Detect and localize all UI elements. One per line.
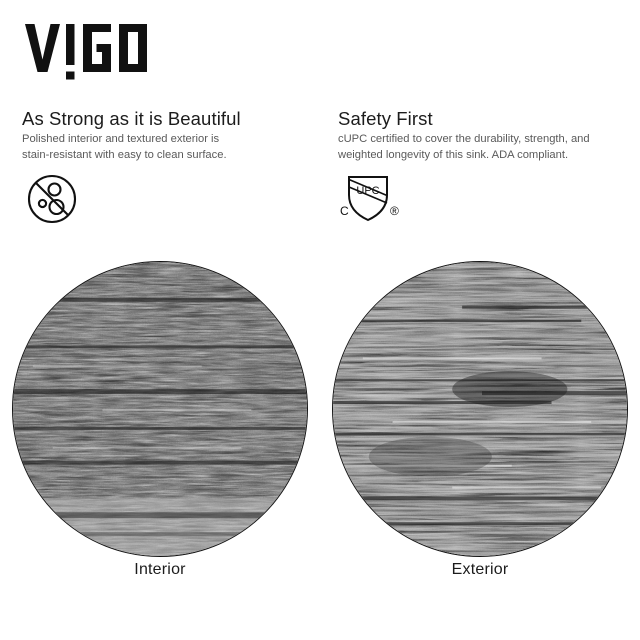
feature-strength-title: As Strong as it is Beautiful — [22, 108, 312, 130]
disc-interior-label: Interior — [12, 561, 308, 579]
vigo-logo — [25, 22, 185, 84]
shield-upc-label: UPC — [356, 185, 379, 197]
registered-mark: ® — [390, 204, 399, 218]
feature-safety-body: cUPC certified to cover the durability, … — [338, 132, 628, 163]
shield-outline — [349, 177, 387, 220]
disc-interior: Interior — [12, 261, 308, 557]
disc-exterior-image — [332, 261, 628, 557]
feature-safety-title: Safety First — [338, 108, 628, 130]
product-info-panel: As Strong as it is Beautiful Polished in… — [0, 0, 640, 640]
feature-safety: Safety First cUPC certified to cover the… — [338, 108, 628, 231]
feature-strength-body-line1: Polished interior and textured exterior … — [22, 132, 312, 148]
disc-exterior-label: Exterior — [332, 561, 628, 579]
feature-strength: As Strong as it is Beautiful Polished in… — [22, 108, 312, 231]
disc-exterior: Exterior — [332, 261, 628, 557]
cupc-prefix-mark: C — [340, 204, 349, 218]
feature-strength-body-line2: stain-resistant with easy to clean surfa… — [22, 148, 312, 164]
stain-resistant-icon — [22, 173, 312, 231]
feature-safety-body-line1: cUPC certified to cover the durability, … — [338, 132, 628, 148]
feature-strength-body: Polished interior and textured exterior … — [22, 132, 312, 163]
feature-safety-body-line2: weighted longevity of this sink. ADA com… — [338, 148, 628, 164]
cupc-shield-icon: UPC C ® — [338, 173, 628, 231]
disc-interior-image — [12, 261, 308, 557]
